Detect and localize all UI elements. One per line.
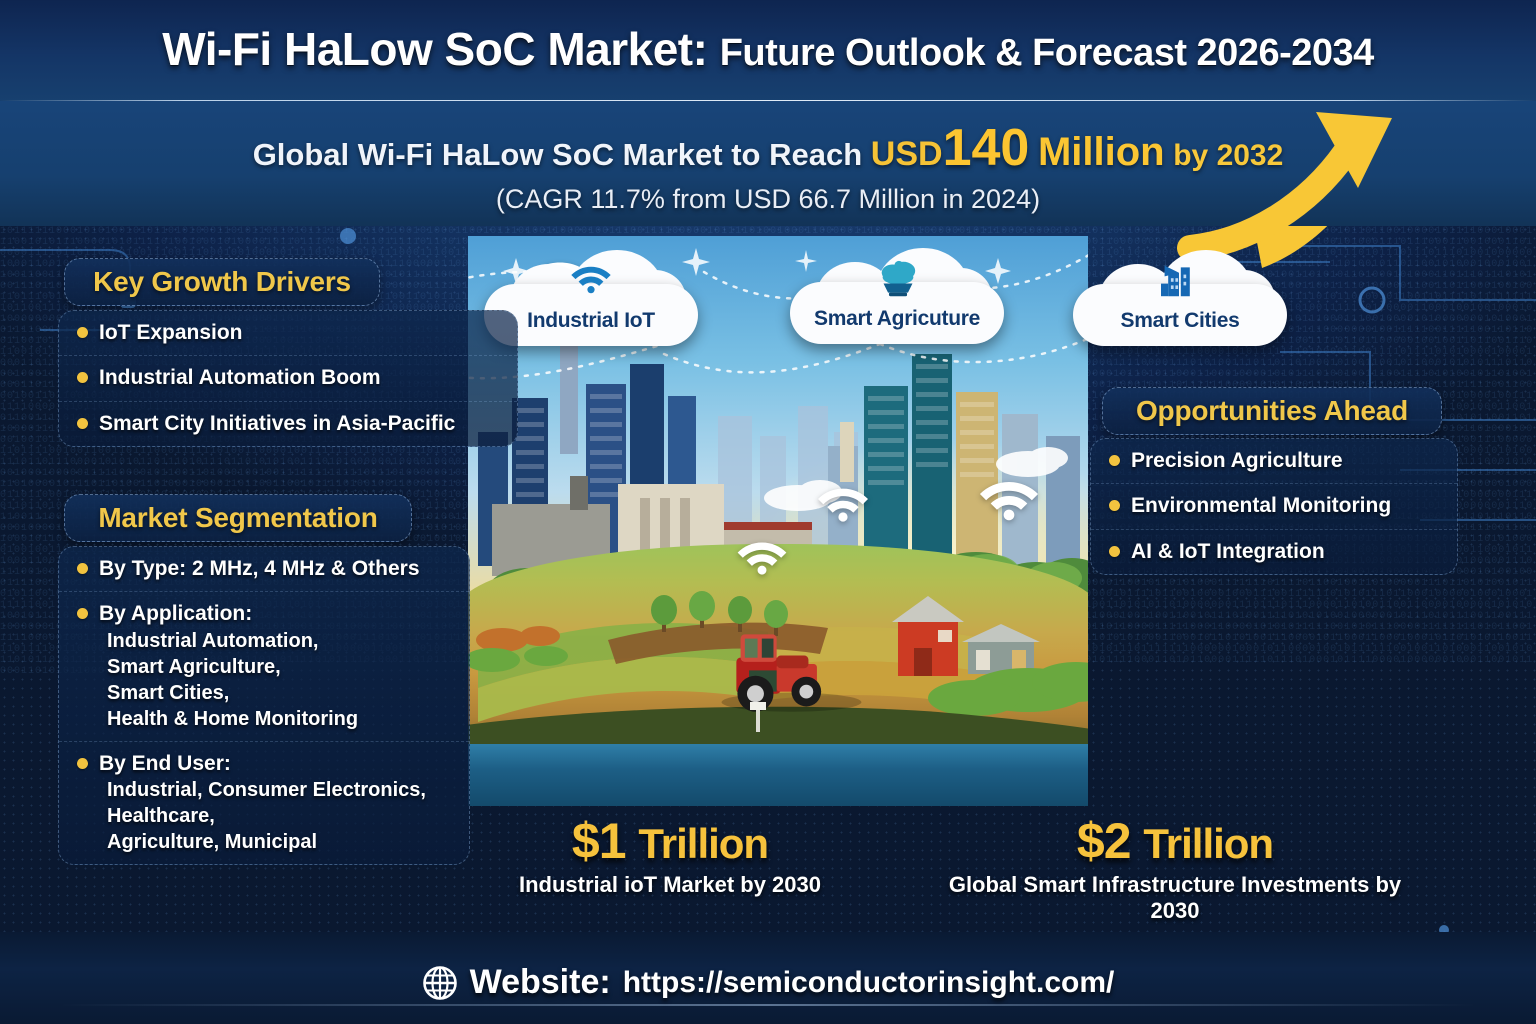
stat-caption-1: Industrial ioT Market by 2030 (470, 872, 870, 898)
bullet-icon (1109, 500, 1120, 511)
segmentation-panel: By Type: 2 MHz, 4 MHz & Others By Applic… (58, 546, 470, 865)
stat-unit-2: Trillion (1143, 820, 1273, 867)
title-main: Wi-Fi HaLow SoC Market: (162, 23, 707, 75)
segmentation-heading: Market Segmentation (65, 502, 411, 534)
segmentation-app-1: Smart Agriculture, (99, 654, 455, 680)
subtitle-unit: Million (1038, 130, 1165, 174)
stat-caption-2: Global Smart Infrastructure Investments … (940, 872, 1410, 925)
subtitle-block: Global Wi-Fi HaLow SoC Market to Reach U… (0, 118, 1536, 215)
opportunity-1: Environmental Monitoring (1131, 493, 1443, 519)
stat-value-1: $1 Trillion (470, 812, 870, 870)
segmentation-enduser-1: Healthcare, (99, 803, 455, 829)
segmentation-enduser-0: Industrial, Consumer Electronics, (99, 777, 455, 803)
wifi-icon (570, 262, 612, 298)
opportunity-2: AI & IoT Integration (1131, 539, 1443, 565)
stat-smart-infrastructure: $2 Trillion Global Smart Infrastructure … (940, 812, 1410, 925)
cloud-badge-smart-agriculture[interactable]: Smart Agricuture (790, 248, 1004, 344)
segmentation-by-end-user: By End User: (99, 751, 455, 777)
stat-industrial-iot: $1 Trillion Industrial ioT Market by 203… (470, 812, 870, 898)
wifi-signal-icon (816, 482, 870, 522)
wifi-signal-icon (736, 536, 788, 575)
growth-drivers-heading: Key Growth Drivers (65, 266, 379, 298)
segmentation-app-3: Health & Home Monitoring (99, 706, 455, 732)
opportunity-0: Precision Agriculture (1131, 448, 1443, 474)
list-item[interactable]: Industrial Automation Boom (59, 356, 517, 401)
segmentation-by-application: By Application: (99, 601, 455, 627)
segmentation-app-0: Industrial Automation, (99, 628, 455, 654)
list-item[interactable]: By Type: 2 MHz, 4 MHz & Others (59, 547, 469, 592)
list-item[interactable]: IoT Expansion (59, 311, 517, 356)
cloud-badge-label: Smart Agricuture (790, 307, 1004, 331)
barn-building (892, 596, 964, 676)
opportunities-heading: Opportunities Ahead (1103, 395, 1441, 427)
stat-unit-1: Trillion (638, 820, 768, 867)
list-item[interactable]: By End User: Industrial, Consumer Electr… (59, 742, 469, 864)
subtitle-line-2: (CAGR 11.7% from USD 66.7 Million in 202… (0, 184, 1536, 215)
bullet-icon (1109, 455, 1120, 466)
bullet-icon (77, 418, 88, 429)
list-item[interactable]: By Application: Industrial Automation, S… (59, 592, 469, 741)
bullet-icon (1109, 546, 1120, 557)
subtitle-value: 140 (943, 119, 1030, 177)
bullet-icon (77, 563, 88, 574)
bullet-icon (77, 758, 88, 769)
stat-number-1: $1 (572, 813, 626, 869)
wifi-signal-icon (978, 474, 1040, 521)
river (468, 744, 1088, 806)
growth-drivers-panel: IoT Expansion Industrial Automation Boom… (58, 310, 518, 447)
bullet-icon (77, 327, 88, 338)
building-icon (1159, 262, 1201, 298)
segmentation-header: Market Segmentation (64, 494, 412, 542)
list-item[interactable]: Smart City Initiatives in Asia-Pacific (59, 402, 517, 446)
subtitle-by-year: by 2032 (1173, 139, 1283, 172)
opportunities-header: Opportunities Ahead (1102, 387, 1442, 435)
shed-building (962, 624, 1040, 674)
bullet-icon (77, 372, 88, 383)
footer-divider (60, 1004, 1476, 1006)
stat-number-2: $2 (1077, 813, 1131, 869)
opportunities-panel: Precision Agriculture Environmental Moni… (1090, 438, 1458, 575)
cloud-badge-label: Smart Cities (1073, 309, 1287, 333)
list-item[interactable]: AI & IoT Integration (1091, 530, 1457, 574)
growth-driver-1: Industrial Automation Boom (99, 365, 503, 391)
segmentation-by-type: By Type: 2 MHz, 4 MHz & Others (99, 556, 455, 582)
subtitle-line-1: Global Wi-Fi HaLow SoC Market to Reach U… (0, 118, 1536, 178)
footer: Website: https://semiconductorinsight.co… (0, 963, 1536, 1002)
title-sub: Future Outlook & Forecast 2026-2034 (720, 32, 1374, 74)
growth-driver-2: Smart City Initiatives in Asia-Pacific (99, 411, 503, 437)
cloud-plant-icon (876, 260, 918, 296)
subtitle-lead: Global Wi-Fi HaLow SoC Market to Reach (253, 137, 862, 172)
growth-driver-0: IoT Expansion (99, 320, 503, 346)
website-url[interactable]: https://semiconductorinsight.com/ (623, 966, 1115, 1000)
infographic-root: 1011000110011010110101101101100010110101… (0, 0, 1536, 1024)
list-item[interactable]: Precision Agriculture (1091, 439, 1457, 484)
globe-icon (422, 965, 458, 1001)
cloud-badge-smart-cities[interactable]: Smart Cities (1073, 250, 1287, 346)
bullet-icon (77, 608, 88, 619)
page-title: Wi-Fi HaLow SoC Market: Future Outlook &… (0, 22, 1536, 76)
list-item[interactable]: Environmental Monitoring (1091, 484, 1457, 529)
subtitle-usd: USD (871, 135, 943, 173)
segmentation-app-2: Smart Cities, (99, 680, 455, 706)
segmentation-enduser-2: Agriculture, Municipal (99, 829, 455, 855)
stat-value-2: $2 Trillion (940, 812, 1410, 870)
growth-drivers-header: Key Growth Drivers (64, 258, 380, 306)
website-label: Website: (470, 963, 611, 1002)
